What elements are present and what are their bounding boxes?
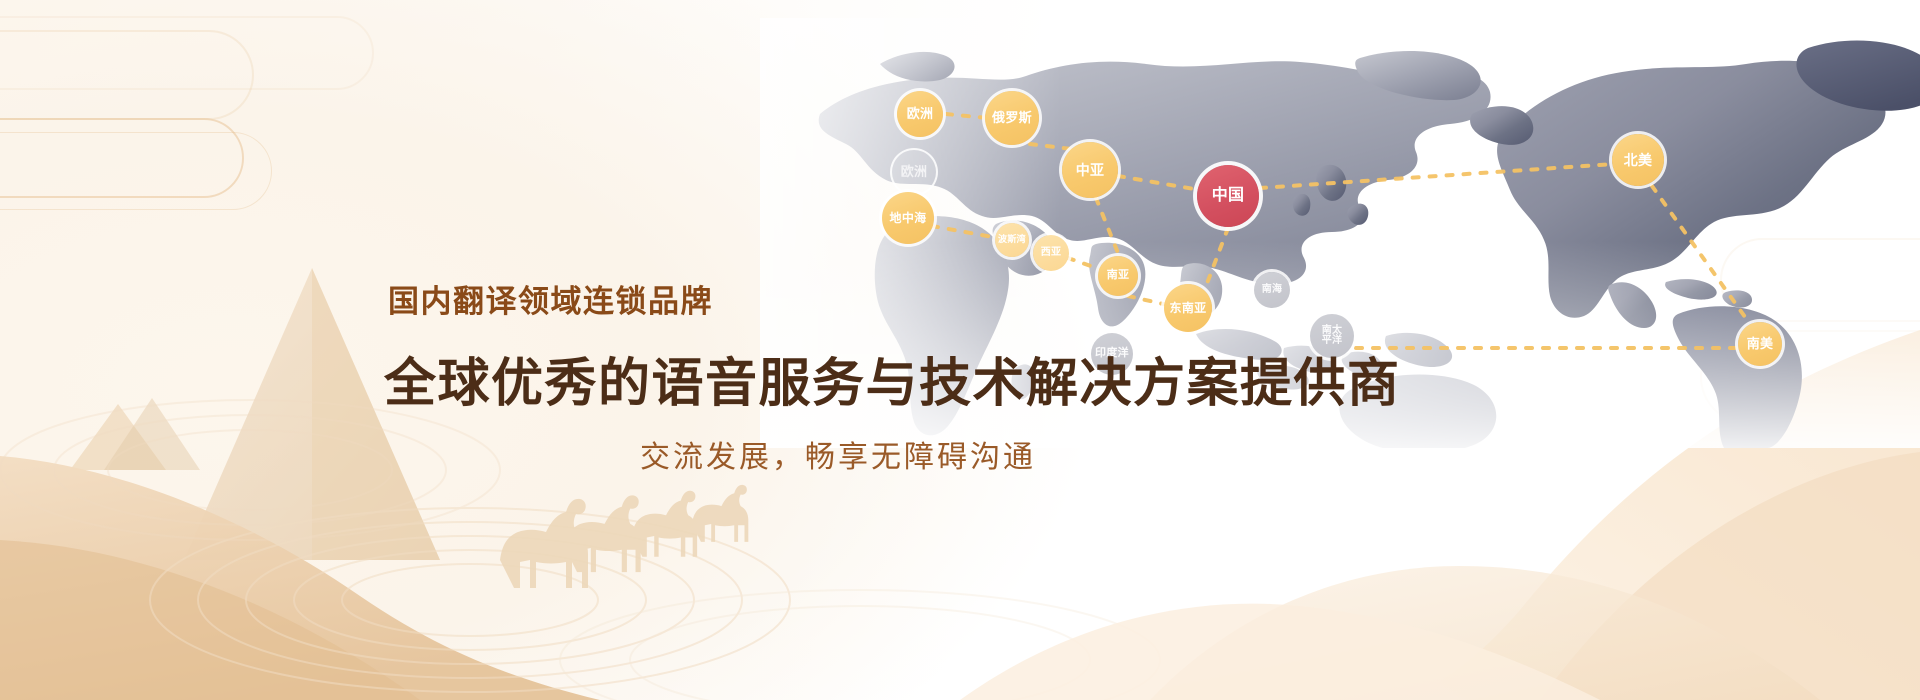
map-node-label: 中亚	[1076, 163, 1105, 177]
map-node-label: 波斯湾	[998, 235, 1026, 244]
map-node-south-pacific[interactable]: 南太平洋	[1310, 314, 1354, 358]
map-node-label: 印度洋	[1095, 348, 1129, 359]
camel-caravan-silhouette	[500, 485, 748, 588]
map-node-mediterranean[interactable]: 地中海	[882, 192, 934, 244]
map-node-label: 南美	[1747, 337, 1774, 350]
map-node-label: 欧洲	[901, 165, 928, 178]
map-node-label: 南亚	[1107, 270, 1130, 281]
map-node-south-america[interactable]: 南美	[1738, 322, 1782, 366]
map-node-persian-gulf[interactable]: 波斯湾	[995, 223, 1029, 257]
map-node-southeast-asia[interactable]: 东南亚	[1164, 284, 1212, 332]
map-node-china[interactable]: 中国	[1197, 165, 1259, 227]
map-node-south-china-sea[interactable]: 南海	[1254, 272, 1290, 308]
map-node-indian-ocean[interactable]: 印度洋	[1091, 333, 1133, 375]
map-node-north-america[interactable]: 北美	[1612, 134, 1664, 186]
map-node-label: 欧洲	[907, 107, 934, 120]
map-node-label: 中国	[1212, 188, 1245, 204]
map-node-europe-ghost[interactable]: 欧洲	[890, 148, 938, 196]
map-node-europe[interactable]: 欧洲	[897, 91, 943, 137]
map-node-label: 西亚	[1041, 248, 1062, 258]
map-node-label: 地中海	[890, 212, 927, 224]
map-node-label: 东南亚	[1170, 302, 1207, 314]
map-node-west-asia[interactable]: 西亚	[1033, 235, 1069, 271]
map-node-russia[interactable]: 俄罗斯	[985, 91, 1039, 145]
world-connection-map: 欧洲 欧洲 俄罗斯 中亚 地中海 波斯湾 西亚 南亚	[760, 18, 1920, 448]
map-node-central-asia[interactable]: 中亚	[1062, 142, 1118, 198]
hero-banner: 欧洲 欧洲 俄罗斯 中亚 地中海 波斯湾 西亚 南亚	[0, 0, 1920, 700]
map-node-label: 北美	[1624, 153, 1653, 167]
map-node-south-asia[interactable]: 南亚	[1098, 256, 1138, 296]
map-node-label: 俄罗斯	[992, 111, 1032, 124]
map-node-label: 南太平洋	[1317, 326, 1347, 346]
map-node-label: 南海	[1262, 285, 1283, 295]
